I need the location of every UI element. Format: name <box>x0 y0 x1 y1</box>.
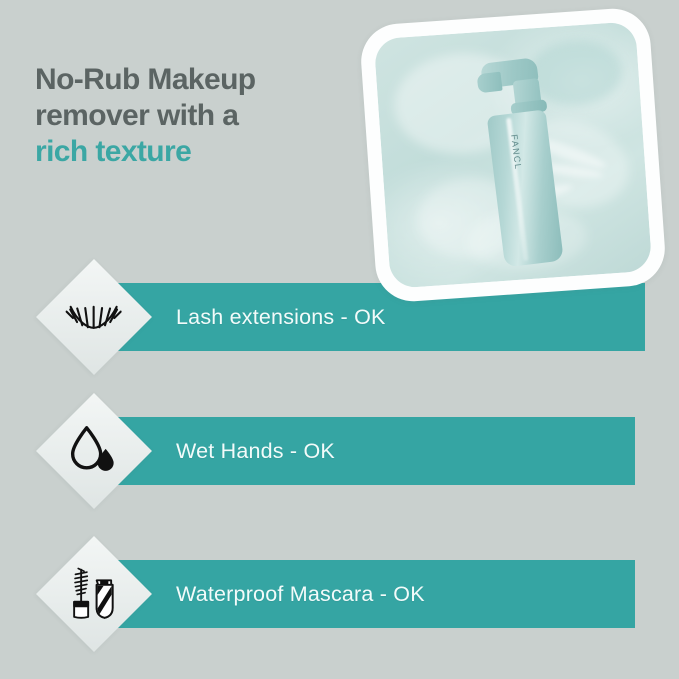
feature-label: Lash extensions - OK <box>176 305 386 330</box>
headline-line-3-accent: rich texture <box>35 134 365 170</box>
product-infographic: No-Rub Makeup remover with a rich textur… <box>0 0 679 679</box>
headline-line-2: remover with a <box>35 98 365 134</box>
feature-badge-wet-hands <box>36 393 152 509</box>
feature-label: Wet Hands - OK <box>176 439 335 464</box>
water-droplet-icon <box>69 424 119 479</box>
feature-label: Waterproof Mascara - OK <box>176 582 425 607</box>
headline-line-1: No-Rub Makeup <box>35 62 365 98</box>
product-photo: FANCL <box>368 16 658 294</box>
feature-badge-waterproof-mascara <box>36 536 152 652</box>
mascara-wand-icon <box>66 564 122 625</box>
feature-bar: Waterproof Mascara - OK <box>108 560 635 628</box>
eyelash-icon <box>66 297 122 338</box>
page-title: No-Rub Makeup remover with a rich textur… <box>35 62 365 170</box>
feature-bar: Wet Hands - OK <box>108 417 635 485</box>
pump-nozzle-tip <box>476 72 502 93</box>
photo-image: FANCL <box>374 21 653 289</box>
feature-badge-lash-extensions <box>36 259 152 375</box>
